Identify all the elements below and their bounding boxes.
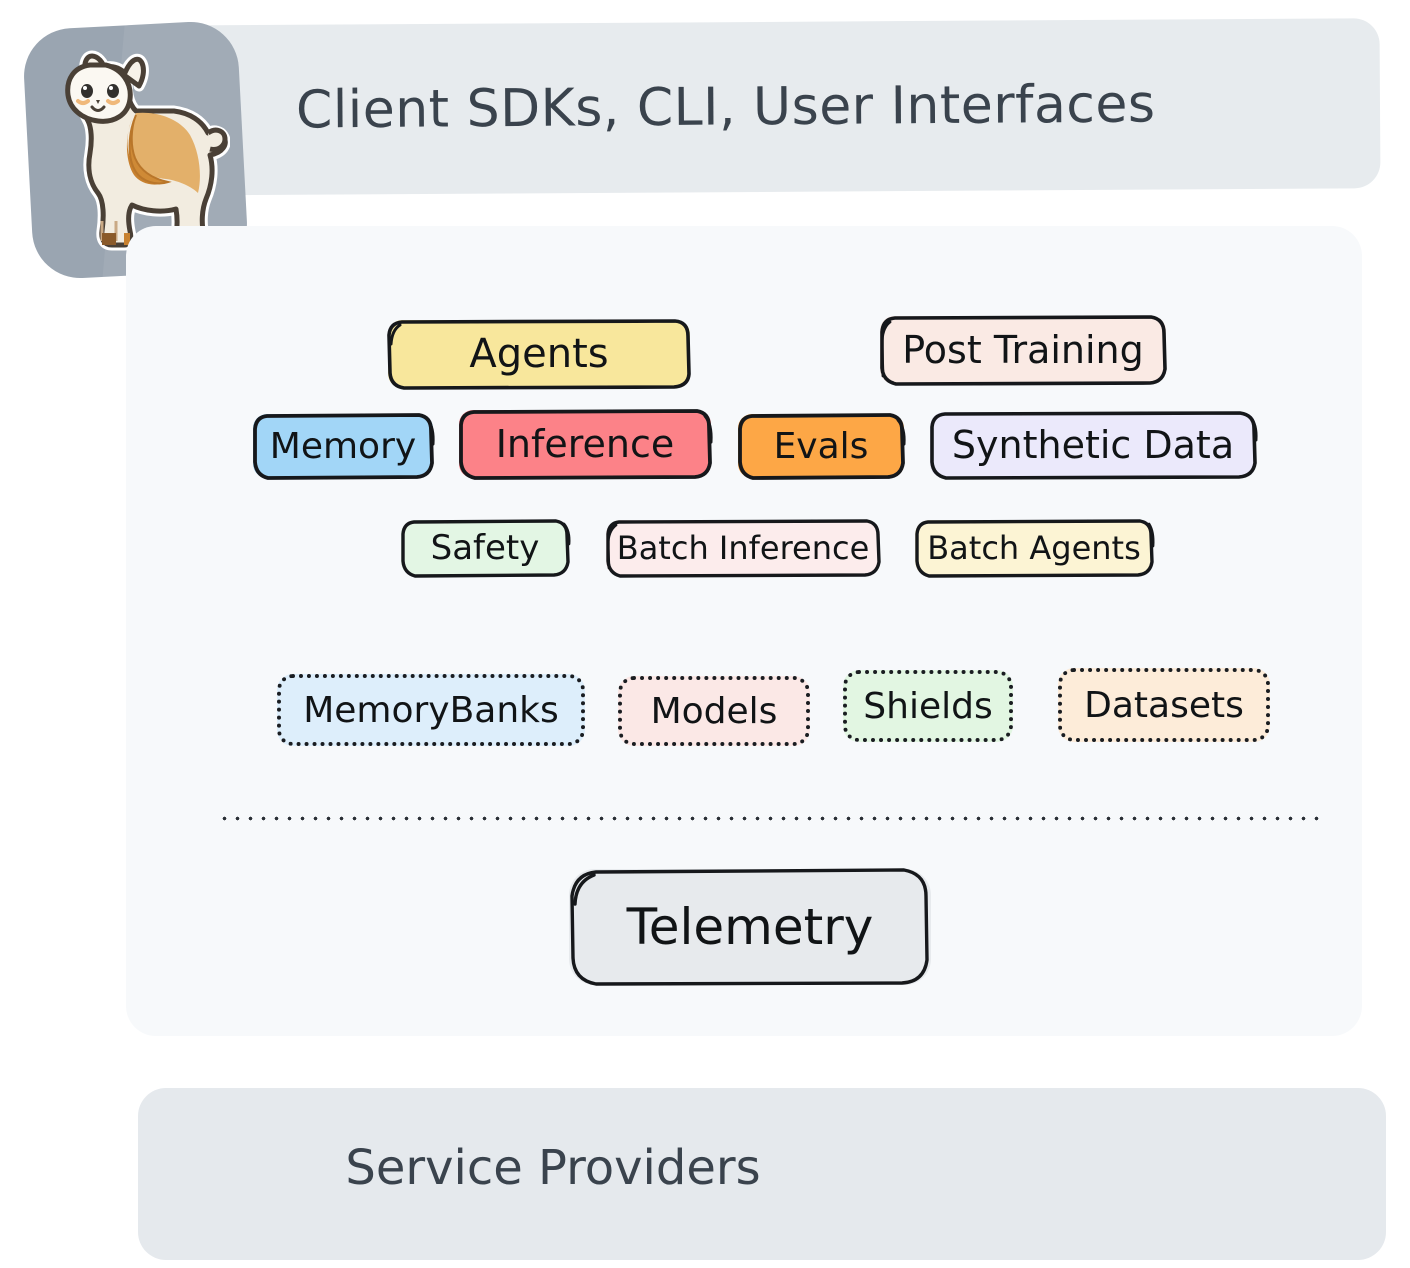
api-label: Safety	[431, 528, 540, 568]
api-box-memory[interactable]: Memory	[251, 412, 435, 480]
api-box-batch-inference[interactable]: Batch Inference	[604, 518, 882, 578]
api-box-agents[interactable]: Agents	[386, 318, 692, 390]
resource-box-models[interactable]: Models	[618, 676, 810, 746]
telemetry-label: Telemetry	[627, 898, 874, 956]
api-label: Evals	[774, 426, 869, 467]
api-label: Batch Agents	[927, 529, 1141, 567]
api-label: Post Training	[902, 328, 1144, 372]
api-label: Agents	[469, 331, 608, 377]
resource-box-shields[interactable]: Shields	[843, 670, 1013, 742]
resource-label: Models	[651, 691, 778, 732]
resource-label: MemoryBanks	[303, 690, 559, 731]
api-box-evals[interactable]: Evals	[736, 412, 906, 480]
service-providers-label: Service Providers	[138, 1140, 968, 1196]
api-box-batch-agents[interactable]: Batch Agents	[913, 518, 1155, 578]
resource-label: Shields	[863, 686, 992, 727]
client-layer-label: Client SDKs, CLI, User Interfaces	[296, 69, 1296, 146]
api-box-safety[interactable]: Safety	[399, 518, 571, 578]
api-box-post-training[interactable]: Post Training	[878, 314, 1168, 386]
resource-box-memorybanks[interactable]: MemoryBanks	[277, 674, 585, 746]
diagram-canvas: Client SDKs, CLI, User Interfaces	[0, 0, 1410, 1268]
api-label: Batch Inference	[617, 529, 870, 567]
resource-box-datasets[interactable]: Datasets	[1058, 668, 1270, 742]
resource-label: Datasets	[1084, 685, 1244, 726]
api-label: Inference	[496, 422, 675, 466]
api-box-synthetic-data[interactable]: Synthetic Data	[928, 410, 1258, 480]
telemetry-box[interactable]: Telemetry	[566, 866, 934, 988]
api-label: Synthetic Data	[952, 423, 1234, 467]
api-label: Memory	[270, 426, 416, 467]
section-divider	[218, 816, 1322, 821]
api-box-inference[interactable]: Inference	[457, 408, 713, 480]
